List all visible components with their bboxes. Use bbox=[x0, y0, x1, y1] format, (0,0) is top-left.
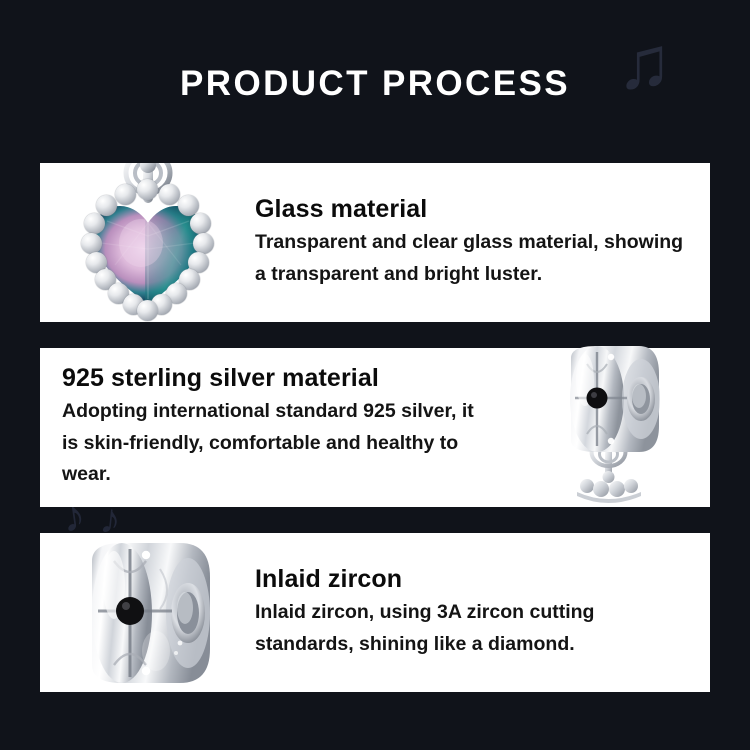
product-image-silver-clip-charm bbox=[510, 348, 710, 507]
page-title: PRODUCT PROCESS bbox=[0, 64, 750, 104]
feature-heading: Inlaid zircon bbox=[255, 565, 698, 594]
heart-gemstone bbox=[85, 191, 211, 315]
feature-copy: 925 sterling silver material Adopting in… bbox=[40, 364, 510, 491]
feature-copy: Glass material Transparent and clear gla… bbox=[255, 195, 710, 290]
feature-body: Adopting international standard 925 silv… bbox=[62, 396, 492, 491]
feature-panel-sterling-silver: 925 sterling silver material Adopting in… bbox=[40, 348, 710, 507]
feature-body: Inlaid zircon, using 3A zircon cutting s… bbox=[255, 597, 695, 660]
product-image-heart-pendant bbox=[40, 163, 255, 322]
charm-body bbox=[570, 346, 660, 452]
charm-body bbox=[92, 543, 210, 683]
silver-clip-charm-svg bbox=[64, 533, 232, 692]
feature-panel-glass-material: Glass material Transparent and clear gla… bbox=[40, 163, 710, 322]
feature-heading: 925 sterling silver material bbox=[62, 364, 510, 393]
feature-panel-inlaid-zircon: Inlaid zircon Inlaid zircon, using 3A zi… bbox=[40, 533, 710, 692]
silver-clip-charm-svg bbox=[535, 340, 685, 515]
feature-heading: Glass material bbox=[255, 195, 698, 224]
product-image-silver-clip-charm bbox=[40, 533, 255, 692]
feature-body: Transparent and clear glass material, sh… bbox=[255, 227, 695, 290]
feature-copy: Inlaid zircon Inlaid zircon, using 3A zi… bbox=[255, 565, 710, 660]
